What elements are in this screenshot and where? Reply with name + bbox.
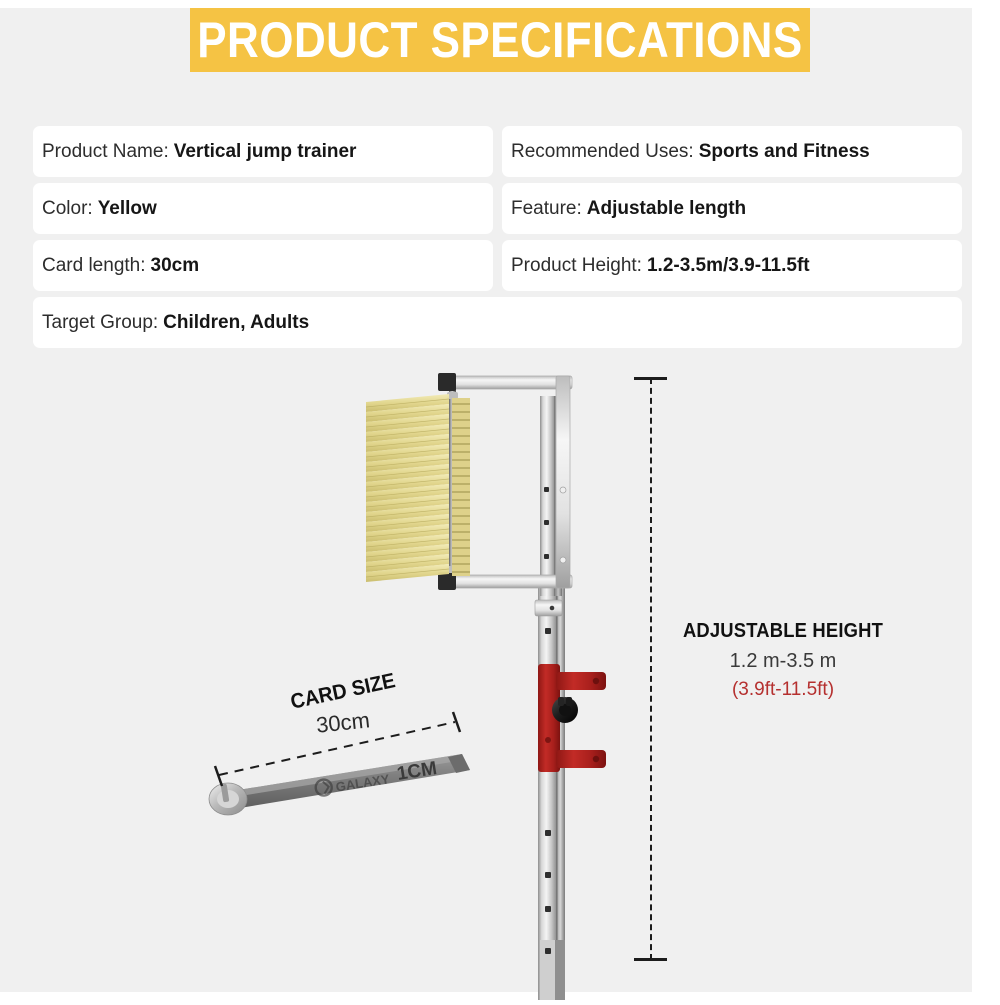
spec-value: Sports and Fitness bbox=[699, 141, 870, 163]
spec-value: Adjustable length bbox=[587, 198, 746, 220]
spec-value: Children, Adults bbox=[163, 312, 309, 334]
spec-columns: Product Name: Vertical jump trainer Colo… bbox=[33, 126, 962, 291]
spec-label: Color: bbox=[42, 198, 93, 220]
spec-label: Target Group: bbox=[42, 312, 158, 334]
spec-label: Product Name: bbox=[42, 141, 169, 163]
spec-column-right: Recommended Uses: Sports and Fitness Fea… bbox=[502, 126, 962, 291]
spec-label: Recommended Uses: bbox=[511, 141, 694, 163]
spec-row-card-length: Card length: 30cm bbox=[33, 240, 493, 291]
spec-value: Yellow bbox=[98, 198, 157, 220]
spec-value: 1.2-3.5m/3.9-11.5ft bbox=[647, 255, 810, 277]
spec-value: 30cm bbox=[151, 255, 200, 277]
page-title: PRODUCT SPECIFICATIONS bbox=[197, 15, 802, 65]
spec-row-target-group: Target Group: Children, Adults bbox=[33, 297, 962, 348]
spec-row-product-height: Product Height: 1.2-3.5m/3.9-11.5ft bbox=[502, 240, 962, 291]
spec-label: Card length: bbox=[42, 255, 146, 277]
spec-value: Vertical jump trainer bbox=[174, 141, 357, 163]
spec-label: Feature: bbox=[511, 198, 582, 220]
header-banner: PRODUCT SPECIFICATIONS bbox=[190, 8, 810, 72]
spec-row-recommended-uses: Recommended Uses: Sports and Fitness bbox=[502, 126, 962, 177]
spec-row-product-name: Product Name: Vertical jump trainer bbox=[33, 126, 493, 177]
specifications-table: Product Name: Vertical jump trainer Colo… bbox=[33, 126, 962, 348]
spec-column-left: Product Name: Vertical jump trainer Colo… bbox=[33, 126, 493, 291]
spec-row-feature: Feature: Adjustable length bbox=[502, 183, 962, 234]
spec-label: Product Height: bbox=[511, 255, 642, 277]
spec-row-color: Color: Yellow bbox=[33, 183, 493, 234]
product-spec-page: PRODUCT SPECIFICATIONS Product Name: Ver… bbox=[0, 0, 1000, 1000]
